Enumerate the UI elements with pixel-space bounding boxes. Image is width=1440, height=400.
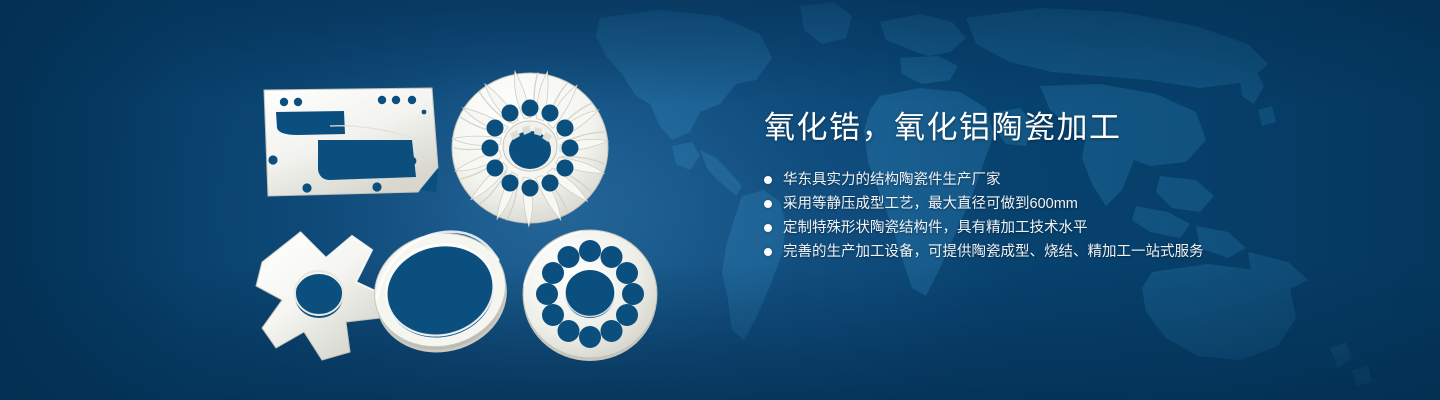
bullet-icon <box>764 200 772 208</box>
list-item: 完善的生产加工设备，可提供陶瓷成型、烧结、精加工一站式服务 <box>764 244 1384 260</box>
bullet-icon <box>764 248 772 256</box>
list-item: 定制特殊形状陶瓷结构件，具有精加工技术水平 <box>764 220 1384 236</box>
product-ceramic-vaned-impeller <box>452 70 608 226</box>
list-item-label: 定制特殊形状陶瓷结构件，具有精加工技术水平 <box>783 220 1088 236</box>
product-ceramic-ring <box>362 220 519 366</box>
list-item: 华东具实力的结构陶瓷件生产厂家 <box>764 172 1384 188</box>
banner-copy: 氧化锆，氧化铝陶瓷加工 华东具实力的结构陶瓷件生产厂家 采用等静压成型工艺，最大… <box>764 108 1384 268</box>
product-ceramic-cross-blade <box>256 232 386 360</box>
product-photo-group <box>0 0 740 400</box>
hero-banner: 氧化锆，氧化铝陶瓷加工 华东具实力的结构陶瓷件生产厂家 采用等静压成型工艺，最大… <box>0 0 1440 400</box>
bullet-icon <box>764 176 772 184</box>
list-item: 采用等静压成型工艺，最大直径可做到600mm <box>764 196 1384 212</box>
bullet-icon <box>764 224 772 232</box>
product-ceramic-perforated-disc <box>523 230 657 361</box>
list-item-label: 采用等静压成型工艺，最大直径可做到600mm <box>783 196 1078 212</box>
feature-list: 华东具实力的结构陶瓷件生产厂家 采用等静压成型工艺，最大直径可做到600mm 定… <box>764 172 1384 260</box>
list-item-label: 华东具实力的结构陶瓷件生产厂家 <box>783 172 1001 188</box>
page-title: 氧化锆，氧化铝陶瓷加工 <box>764 108 1384 148</box>
list-item-label: 完善的生产加工设备，可提供陶瓷成型、烧结、精加工一站式服务 <box>783 244 1204 260</box>
product-ceramic-mounting-plate <box>264 88 438 196</box>
